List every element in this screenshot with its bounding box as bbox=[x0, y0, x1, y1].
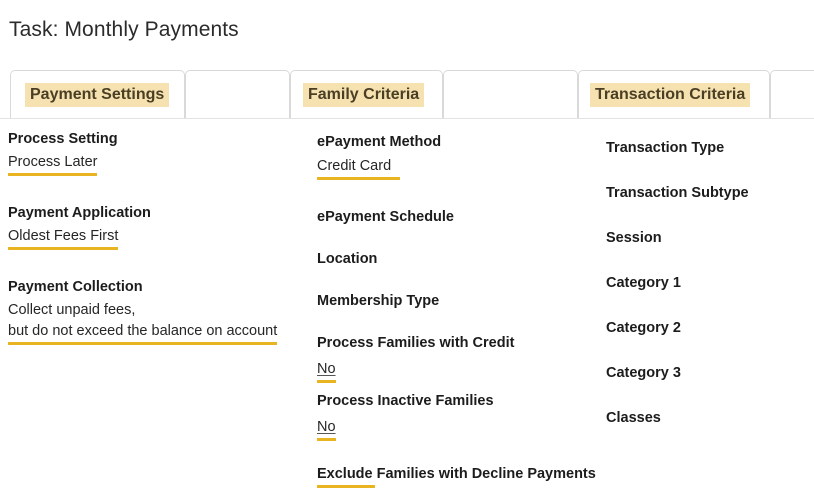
spacer bbox=[317, 269, 607, 292]
panel-transaction-criteria: Transaction Type Transaction Subtype Ses… bbox=[606, 139, 811, 428]
field-process-inactive-families-label: Process Inactive Families bbox=[317, 392, 607, 411]
field-epayment-method-label: ePayment Method bbox=[317, 133, 607, 152]
field-process-setting: Process Setting Process Later bbox=[8, 130, 308, 174]
spacer bbox=[606, 293, 811, 319]
field-process-inactive-families: Process Inactive Families No bbox=[317, 392, 607, 439]
field-membership-type-label: Membership Type bbox=[317, 292, 607, 311]
field-payment-collection: Payment Collection Collect unpaid fees, … bbox=[8, 278, 308, 343]
tab-transaction-criteria-label: Transaction Criteria bbox=[590, 83, 750, 107]
spacer bbox=[606, 338, 811, 364]
field-epayment-schedule-label: ePayment Schedule bbox=[317, 208, 607, 227]
field-transaction-subtype-label: Transaction Subtype bbox=[606, 184, 811, 203]
field-location: Location bbox=[317, 250, 607, 269]
spacer bbox=[606, 158, 811, 184]
field-process-families-with-credit-label: Process Families with Credit bbox=[317, 334, 607, 353]
field-category-2: Category 2 bbox=[606, 319, 811, 338]
field-exclude-families-with-decline-payments-label[interactable]: Exclude Families with Decline Payments bbox=[317, 465, 596, 486]
tab-spacer-3[interactable] bbox=[770, 70, 814, 118]
spacer bbox=[606, 248, 811, 274]
tab-payment-settings[interactable]: Payment Settings bbox=[10, 70, 185, 118]
field-payment-collection-value-line1[interactable]: Collect unpaid fees, bbox=[8, 302, 135, 318]
field-classes-label: Classes bbox=[606, 409, 811, 428]
field-process-families-with-credit: Process Families with Credit No bbox=[317, 334, 607, 381]
field-session-label: Session bbox=[606, 229, 811, 248]
tab-strip: Payment Settings Family Criteria Transac… bbox=[0, 70, 814, 120]
page-title: Task: Monthly Payments bbox=[9, 18, 239, 42]
field-category-1-label: Category 1 bbox=[606, 274, 811, 293]
panel-family-criteria: ePayment Method Credit Card ePayment Sch… bbox=[317, 133, 607, 486]
field-payment-application-value[interactable]: Oldest Fees First bbox=[8, 227, 118, 248]
spacer bbox=[317, 439, 607, 465]
field-session: Session bbox=[606, 229, 811, 248]
field-process-families-with-credit-value[interactable]: No bbox=[317, 360, 336, 381]
tab-transaction-criteria[interactable]: Transaction Criteria bbox=[578, 70, 770, 118]
tab-spacer-1[interactable] bbox=[185, 70, 290, 118]
field-payment-collection-label: Payment Collection bbox=[8, 278, 308, 297]
field-epayment-method: ePayment Method Credit Card bbox=[317, 133, 607, 178]
field-transaction-type-label: Transaction Type bbox=[606, 139, 811, 158]
field-category-3-label: Category 3 bbox=[606, 364, 811, 383]
field-payment-collection-value-line2[interactable]: but do not exceed the balance on account bbox=[8, 322, 277, 343]
field-location-label: Location bbox=[317, 250, 607, 269]
spacer bbox=[317, 311, 607, 334]
spacer bbox=[606, 383, 811, 409]
field-category-3: Category 3 bbox=[606, 364, 811, 383]
field-exclude-families-with-decline-payments: Exclude Families with Decline Payments bbox=[317, 465, 607, 486]
field-classes: Classes bbox=[606, 409, 811, 428]
spacer bbox=[317, 381, 607, 392]
field-transaction-subtype: Transaction Subtype bbox=[606, 184, 811, 203]
spacer bbox=[8, 248, 308, 278]
spacer bbox=[317, 227, 607, 250]
field-category-1: Category 1 bbox=[606, 274, 811, 293]
tab-payment-settings-label: Payment Settings bbox=[25, 83, 169, 107]
field-epayment-schedule: ePayment Schedule bbox=[317, 208, 607, 227]
field-process-inactive-families-value[interactable]: No bbox=[317, 418, 336, 439]
tab-family-criteria[interactable]: Family Criteria bbox=[290, 70, 443, 118]
tab-family-criteria-label: Family Criteria bbox=[303, 83, 424, 107]
field-membership-type: Membership Type bbox=[317, 292, 607, 311]
field-epayment-method-value[interactable]: Credit Card bbox=[317, 157, 391, 178]
field-category-2-label: Category 2 bbox=[606, 319, 811, 338]
spacer bbox=[8, 174, 308, 204]
field-payment-application-label: Payment Application bbox=[8, 204, 308, 223]
tab-strip-bottom-rule bbox=[0, 118, 814, 119]
panel-payment-settings: Process Setting Process Later Payment Ap… bbox=[8, 130, 308, 343]
field-process-setting-label: Process Setting bbox=[8, 130, 308, 149]
spacer bbox=[606, 203, 811, 229]
field-payment-application: Payment Application Oldest Fees First bbox=[8, 204, 308, 248]
spacer bbox=[317, 178, 607, 208]
field-process-setting-value[interactable]: Process Later bbox=[8, 153, 97, 174]
tab-spacer-2[interactable] bbox=[443, 70, 578, 118]
field-transaction-type: Transaction Type bbox=[606, 139, 811, 158]
